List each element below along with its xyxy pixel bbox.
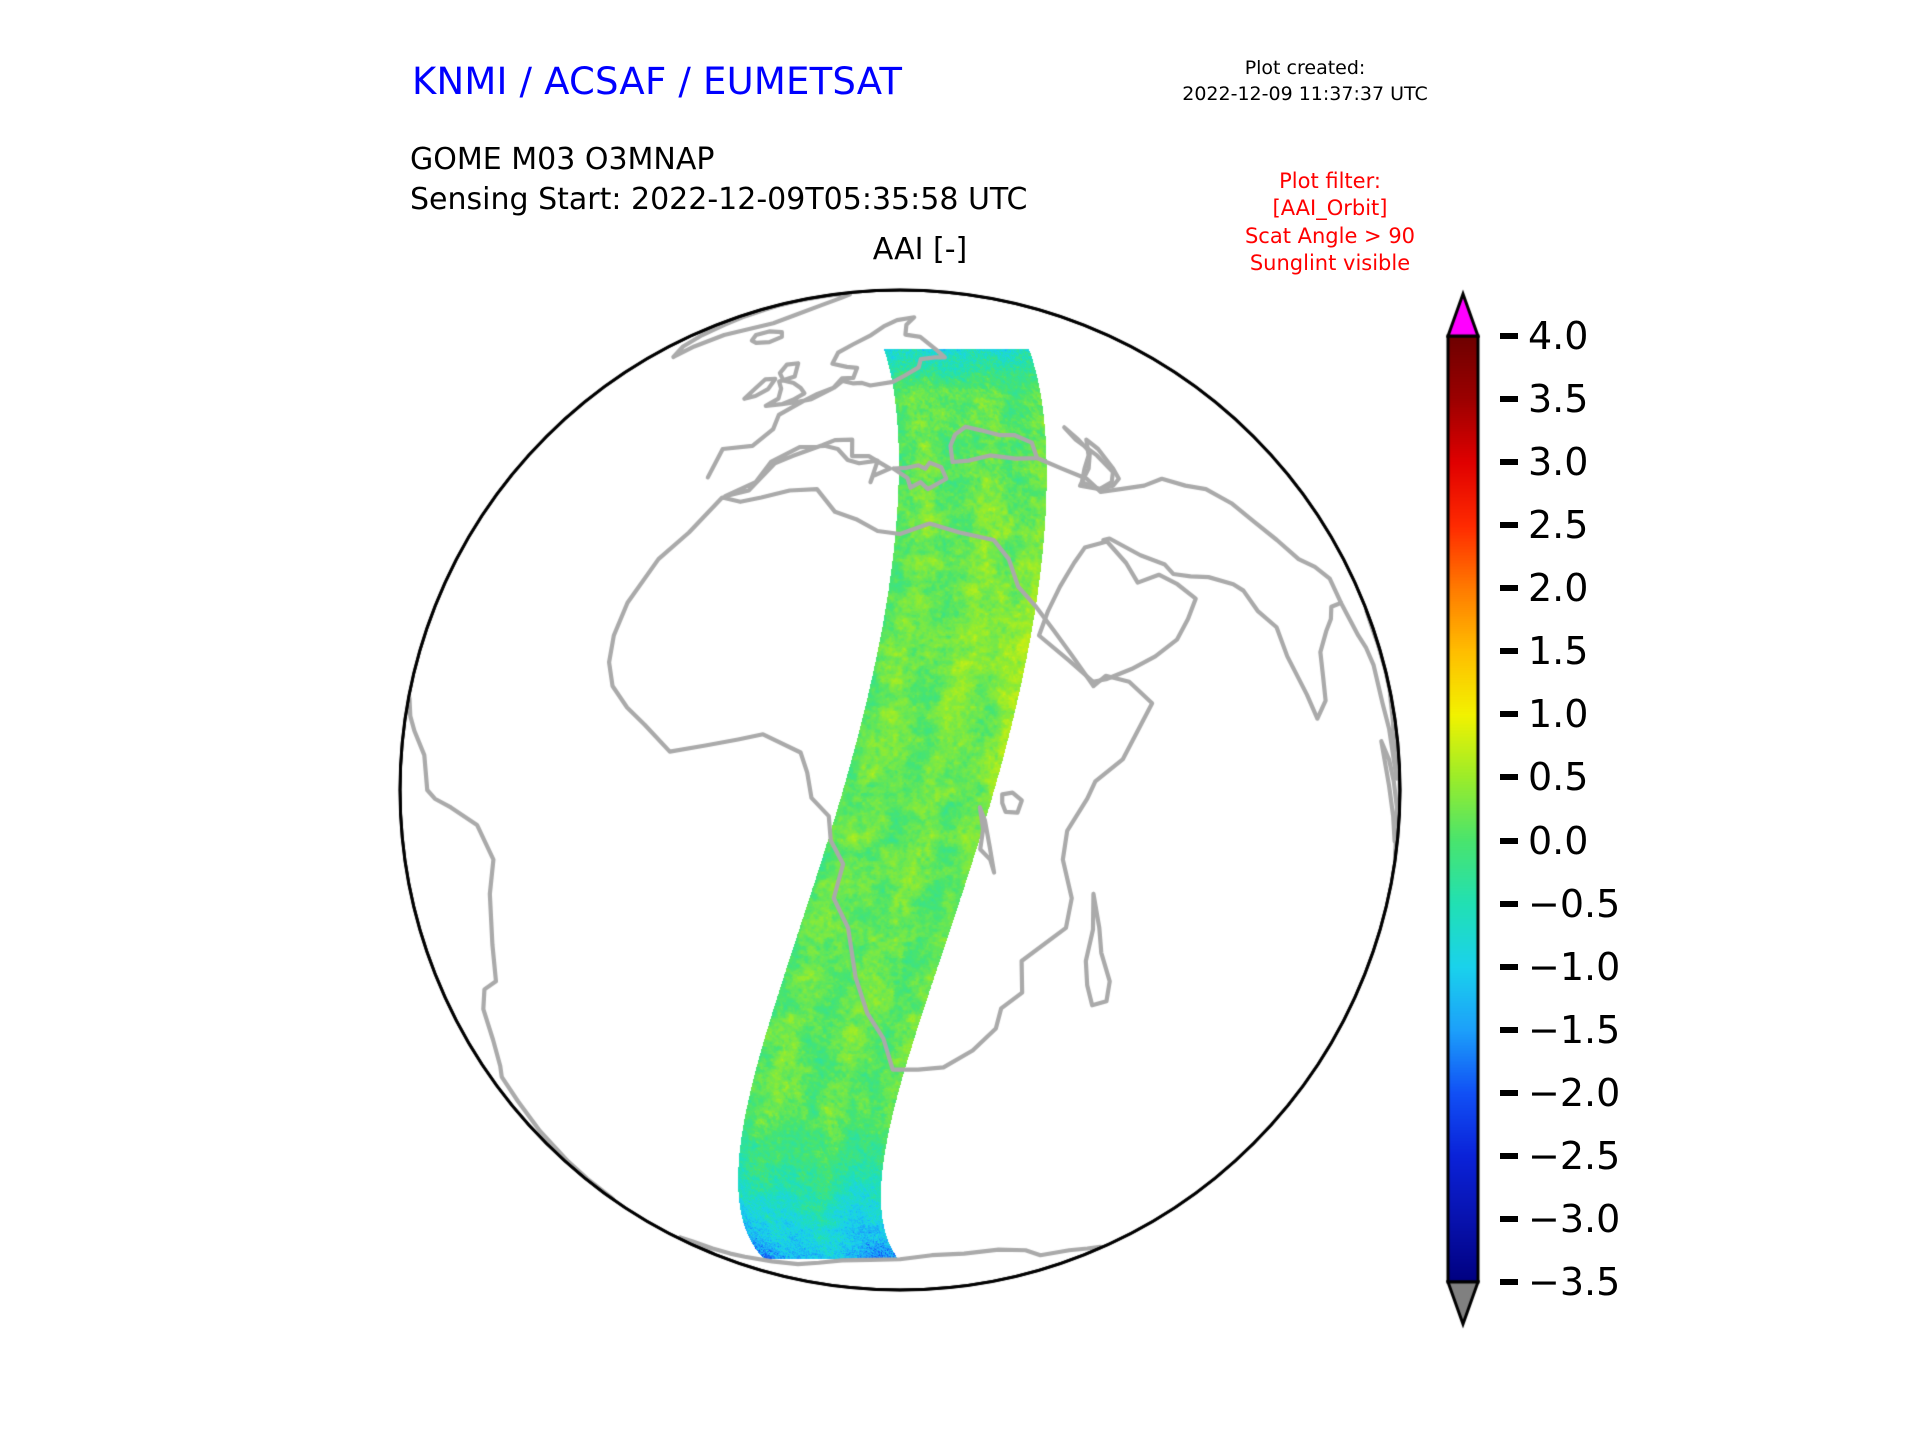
plot-root: KNMI / ACSAF / EUMETSAT Plot created: 20… (0, 0, 1920, 1440)
colorbar-tick-label: 3.0 (1528, 440, 1588, 484)
colorbar-tick-label: 3.5 (1528, 377, 1588, 421)
colorbar-tick-label: 2.0 (1528, 566, 1588, 610)
colorbar-tick-mark (1500, 774, 1518, 780)
colorbar-tick-mark (1500, 459, 1518, 465)
plot-created-timestamp: 2022-12-09 11:37:37 UTC (1130, 82, 1480, 108)
colorbar-tick-mark (1500, 838, 1518, 844)
colorbar-tick-mark (1500, 396, 1518, 402)
colorbar-tick-mark (1500, 1090, 1518, 1096)
colorbar-gradient (1440, 280, 1500, 1350)
organisation-title: KNMI / ACSAF / EUMETSAT (412, 60, 902, 103)
colorbar-tick-mark (1500, 333, 1518, 339)
colorbar-tick-label: −2.5 (1528, 1134, 1620, 1178)
colorbar-tick-label: 0.0 (1528, 819, 1588, 863)
colorbar-tick-label: 4.0 (1528, 314, 1588, 358)
colorbar-tick-mark (1500, 901, 1518, 907)
colorbar-tick-label: 1.5 (1528, 629, 1588, 673)
colorbar-tick-mark (1500, 1027, 1518, 1033)
colorbar-tick-label: 2.5 (1528, 503, 1588, 547)
sensing-start-line: Sensing Start: 2022-12-09T05:35:58 UTC (410, 180, 1027, 220)
instrument-line: GOME M03 O3MNAP (410, 140, 1027, 180)
colorbar-tick-label: −3.0 (1528, 1197, 1620, 1241)
colorbar-tick-mark (1500, 585, 1518, 591)
colorbar-tick-mark (1500, 1153, 1518, 1159)
plot-filter-scat-angle: Scat Angle > 90 (1180, 223, 1480, 250)
colorbar-tick-label: 0.5 (1528, 755, 1588, 799)
colorbar-tick-label: 1.0 (1528, 692, 1588, 736)
plot-created-block: Plot created: 2022-12-09 11:37:37 UTC (1130, 56, 1480, 107)
variable-title: AAI [-] (600, 232, 1240, 267)
colorbar-tick-label: −0.5 (1528, 882, 1620, 926)
colorbar-tick-label: −1.0 (1528, 945, 1620, 989)
colorbar-tick-mark (1500, 1216, 1518, 1222)
colorbar-tick-mark (1500, 711, 1518, 717)
plot-filter-name: [AAI_Orbit] (1180, 195, 1480, 222)
plot-created-label: Plot created: (1130, 56, 1480, 82)
plot-filter-label: Plot filter: (1180, 168, 1480, 195)
colorbar-tick-label: −3.5 (1528, 1260, 1620, 1304)
dataset-info-block: GOME M03 O3MNAP Sensing Start: 2022-12-0… (410, 140, 1027, 220)
globe-map (380, 270, 1420, 1310)
colorbar-tick-mark (1500, 1279, 1518, 1285)
colorbar-tick-group: 4.03.53.02.52.01.51.00.50.0−0.5−1.0−1.5−… (1500, 280, 1700, 1350)
colorbar-tick-mark (1500, 522, 1518, 528)
colorbar (1440, 280, 1500, 1350)
plot-filter-block: Plot filter: [AAI_Orbit] Scat Angle > 90… (1180, 168, 1480, 277)
colorbar-tick-label: −2.0 (1528, 1071, 1620, 1115)
colorbar-tick-mark (1500, 964, 1518, 970)
colorbar-tick-mark (1500, 648, 1518, 654)
colorbar-tick-label: −1.5 (1528, 1008, 1620, 1052)
